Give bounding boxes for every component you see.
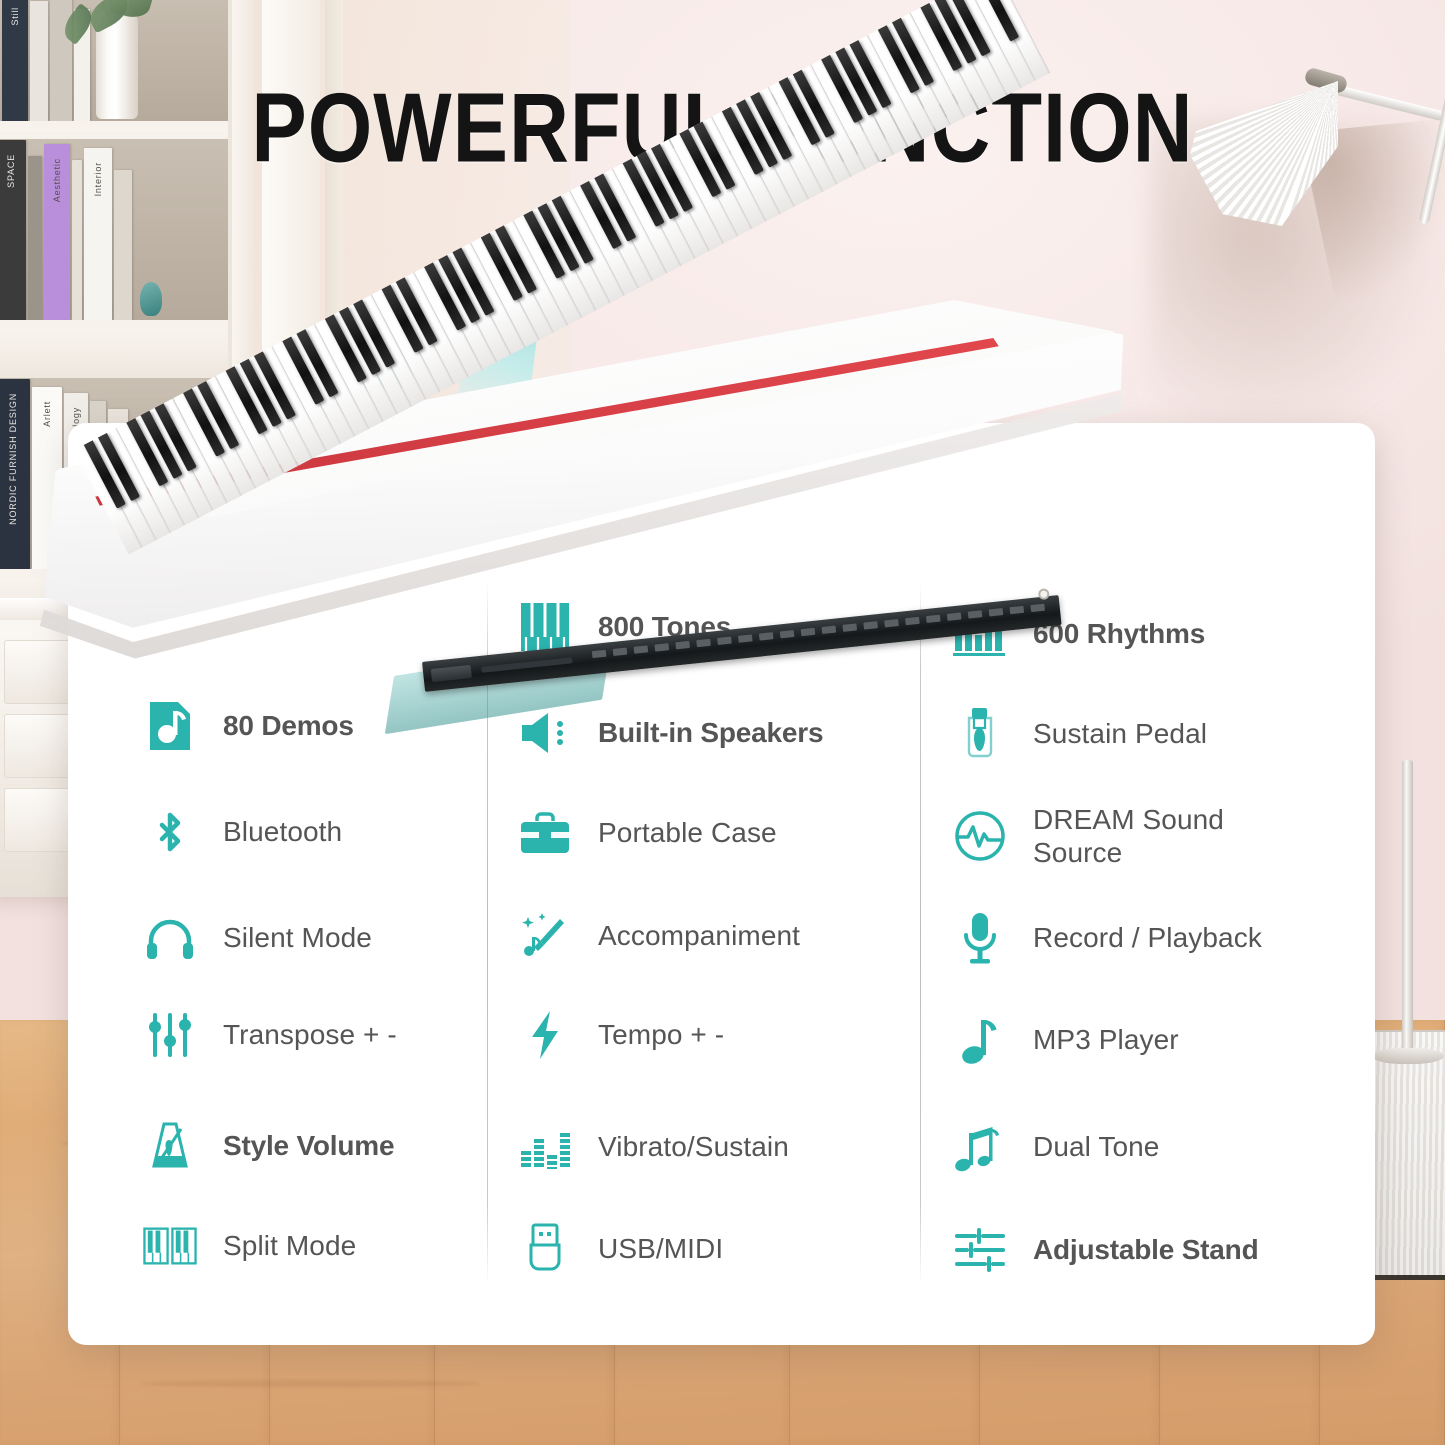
control-button bbox=[968, 610, 983, 618]
control-button bbox=[592, 650, 607, 658]
area-rug bbox=[1368, 1030, 1445, 1280]
control-button bbox=[842, 623, 857, 631]
floor-lamp-base bbox=[1372, 1048, 1444, 1064]
floor-lamp-pole bbox=[1402, 760, 1413, 1060]
book-spine bbox=[114, 170, 132, 320]
control-button bbox=[717, 637, 732, 645]
control-button bbox=[1030, 604, 1045, 612]
control-button bbox=[989, 608, 1004, 616]
control-slot bbox=[481, 657, 573, 673]
control-button bbox=[780, 630, 795, 638]
control-button bbox=[696, 639, 711, 647]
control-button bbox=[926, 615, 941, 623]
control-button bbox=[905, 617, 920, 625]
control-button bbox=[863, 621, 878, 629]
control-button bbox=[738, 634, 753, 642]
control-button bbox=[801, 628, 816, 636]
control-button bbox=[654, 643, 669, 651]
control-button bbox=[822, 626, 837, 634]
control-button bbox=[947, 612, 962, 620]
control-screen bbox=[431, 665, 472, 682]
control-button bbox=[634, 645, 649, 653]
control-button bbox=[884, 619, 899, 627]
control-button bbox=[759, 632, 774, 640]
control-button bbox=[1009, 606, 1024, 614]
digital-piano bbox=[22, 300, 1132, 660]
control-button bbox=[613, 648, 628, 656]
control-knob bbox=[1038, 588, 1050, 600]
control-button bbox=[675, 641, 690, 649]
